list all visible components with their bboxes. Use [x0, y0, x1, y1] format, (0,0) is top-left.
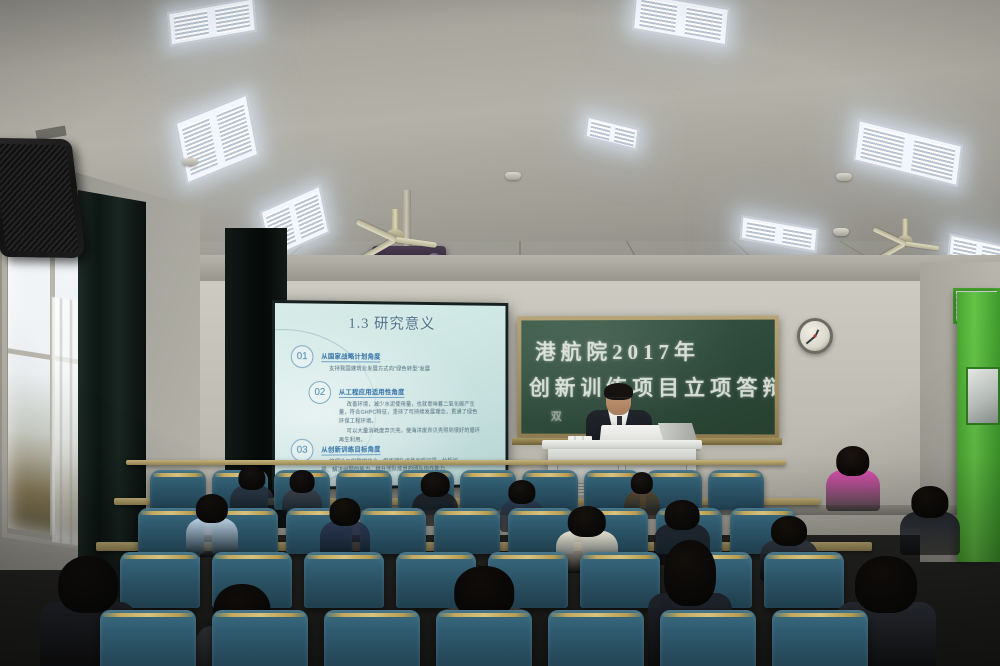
blackboard-line-3: 双 [551, 408, 564, 424]
classroom-door[interactable] [957, 292, 1000, 562]
smoke-detector-icon [505, 172, 521, 180]
person-head [290, 470, 315, 493]
speaker-grill [0, 144, 79, 252]
bullet-number-03: 03 [291, 439, 314, 462]
auditorium-seat[interactable] [304, 552, 384, 608]
podium-top [542, 440, 702, 449]
person-head [196, 494, 228, 523]
judge-pink [826, 446, 880, 504]
auditorium-seat[interactable] [772, 610, 868, 666]
wall-clock-icon [797, 318, 833, 354]
auditorium-seat[interactable] [660, 610, 756, 666]
auditorium-seat[interactable] [548, 610, 644, 666]
person-head [911, 486, 948, 518]
bullet-number-01: 01 [291, 345, 314, 368]
person-head [771, 516, 807, 546]
bullet-heading-01: 从国家战略计划角度 [321, 350, 380, 362]
person-head [631, 472, 653, 494]
slide-title: 1.3 研究意义 [275, 311, 506, 334]
bullet-heading-02: 从工程应用适用性角度 [339, 386, 405, 398]
door-glass-panel [966, 367, 1000, 425]
person-head [664, 540, 716, 606]
person-head [665, 500, 700, 530]
auditorium-seat[interactable] [212, 610, 308, 666]
blackboard-line-1: 港航院2017年 [535, 336, 700, 366]
person-head [836, 446, 869, 476]
smoke-detector-icon [833, 228, 849, 236]
person-torso [826, 470, 880, 511]
student-mid-1 [186, 494, 238, 550]
bullet-heading-03: 从创新训练目标角度 [321, 443, 380, 455]
auditorium-seat[interactable] [434, 508, 500, 554]
person-head [238, 466, 265, 490]
auditorium-seat[interactable] [100, 610, 196, 666]
presenter-glasses-icon [608, 397, 629, 402]
blackout-curtain-left [78, 190, 146, 602]
person-head [58, 556, 118, 613]
slide-bullet-02: 02 从工程应用适用性角度 改善环境，减少水泥使用量，也就意味着二氧化碳产生量，… [309, 381, 483, 447]
lecture-hall-scene: 1.3 研究意义 01 从国家战略计划角度 支持我国建筑业发展方式向"绿色转型"… [0, 0, 1000, 666]
student-desk [126, 460, 786, 465]
person-head [855, 556, 917, 613]
clock-center-pin [814, 335, 817, 338]
person-head [330, 498, 361, 526]
person-torso [186, 518, 238, 557]
auditorium-seat[interactable] [324, 610, 420, 666]
auditorium-seat[interactable] [764, 552, 844, 608]
wall-speaker [0, 138, 86, 259]
smoke-detector-icon [182, 158, 198, 166]
auditorium-seat[interactable] [708, 470, 764, 510]
person-head [421, 472, 450, 497]
smoke-detector-icon [836, 173, 852, 181]
slide-bullet-01: 01 从国家战略计划角度 支持我国建筑业发展方式向"绿色转型"发展 [291, 345, 430, 376]
bullet-number-02: 02 [309, 381, 332, 404]
auditorium-seat[interactable] [436, 610, 532, 666]
student-mid-2 [320, 498, 370, 552]
student-mid-6 [900, 486, 960, 548]
person-head [568, 506, 606, 537]
person-torso [900, 512, 960, 555]
bullet-body-01: 支持我国建筑业发展方式向"绿色转型"发展 [321, 365, 430, 374]
person-head [508, 480, 535, 504]
